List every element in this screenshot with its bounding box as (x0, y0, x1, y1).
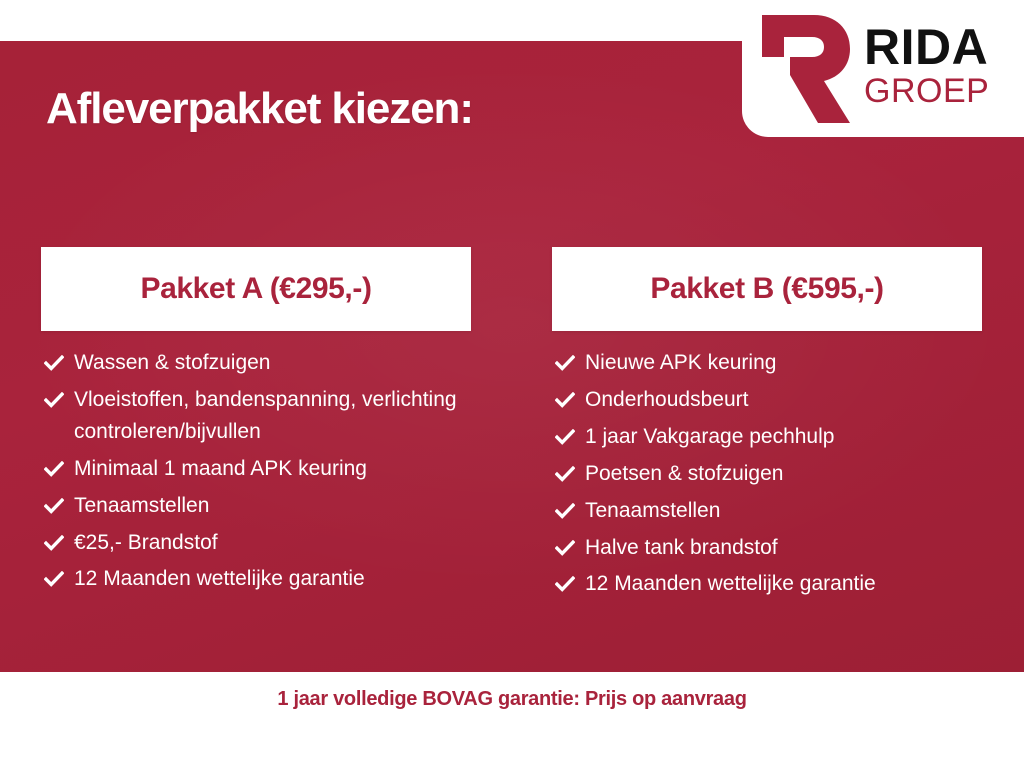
list-item: Tenaamstellen (41, 490, 471, 522)
rida-r-monogram-icon (756, 13, 852, 125)
package-b-feature-list: Nieuwe APK keuring Onderhoudsbeurt (552, 331, 982, 600)
checkmark-icon (555, 568, 585, 592)
package-card-a[interactable]: Pakket A (€295,-) Wassen & stofzuigen (41, 247, 471, 605)
checkmark-icon (44, 384, 74, 408)
list-item-label: Onderhoudsbeurt (585, 384, 982, 416)
page-title: Afleverpakket kiezen: (46, 84, 473, 134)
footer-bar: 1 jaar volledige BOVAG garantie: Prijs o… (0, 672, 1024, 768)
list-item-label: Nieuwe APK keuring (585, 347, 982, 379)
package-b-header: Pakket B (€595,-) (552, 247, 982, 331)
slide-root: Afleverpakket kiezen: Pakket A (€295,-) … (0, 0, 1024, 768)
checkmark-icon (555, 458, 585, 482)
list-item: 1 jaar Vakgarage pechhulp (552, 421, 982, 453)
checkmark-icon (555, 384, 585, 408)
brand-logo-wordmark: RIDA GROEP (864, 23, 989, 114)
list-item: Vloeistoffen, bandenspanning, verlichtin… (41, 384, 471, 448)
checkmark-icon (555, 421, 585, 445)
checkmark-icon (44, 490, 74, 514)
list-item-label: Wassen & stofzuigen (74, 347, 471, 379)
list-item: Onderhoudsbeurt (552, 384, 982, 416)
list-item-label: 12 Maanden wettelijke garantie (74, 563, 471, 595)
list-item: 12 Maanden wettelijke garantie (552, 568, 982, 600)
package-a-feature-list: Wassen & stofzuigen Vloeistoffen, banden… (41, 331, 471, 595)
checkmark-icon (44, 563, 74, 587)
packages-container: Pakket A (€295,-) Wassen & stofzuigen (0, 247, 1024, 605)
brand-name-secondary: GROEP (864, 74, 989, 110)
brand-name-primary: RIDA (864, 23, 989, 72)
list-item: Minimaal 1 maand APK keuring (41, 453, 471, 485)
list-item: 12 Maanden wettelijke garantie (41, 563, 471, 595)
list-item: Nieuwe APK keuring (552, 347, 982, 379)
list-item-label: Halve tank brandstof (585, 532, 982, 564)
package-a-header: Pakket A (€295,-) (41, 247, 471, 331)
list-item-label: 12 Maanden wettelijke garantie (585, 568, 982, 600)
list-item: Tenaamstellen (552, 495, 982, 527)
list-item: €25,- Brandstof (41, 527, 471, 559)
list-item: Poetsen & stofzuigen (552, 458, 982, 490)
brand-logo-panel: RIDA GROEP (742, 0, 1024, 137)
checkmark-icon (555, 495, 585, 519)
checkmark-icon (44, 347, 74, 371)
package-a-title: Pakket A (€295,-) (140, 272, 371, 306)
list-item: Wassen & stofzuigen (41, 347, 471, 379)
list-item-label: Minimaal 1 maand APK keuring (74, 453, 471, 485)
list-item-label: Vloeistoffen, bandenspanning, verlichtin… (74, 384, 471, 448)
footer-note: 1 jaar volledige BOVAG garantie: Prijs o… (277, 688, 746, 711)
list-item-label: Tenaamstellen (74, 490, 471, 522)
checkmark-icon (555, 532, 585, 556)
list-item-label: Poetsen & stofzuigen (585, 458, 982, 490)
list-item-label: 1 jaar Vakgarage pechhulp (585, 421, 982, 453)
package-card-b[interactable]: Pakket B (€595,-) Nieuwe APK keuring (552, 247, 982, 605)
checkmark-icon (44, 527, 74, 551)
checkmark-icon (555, 347, 585, 371)
list-item-label: €25,- Brandstof (74, 527, 471, 559)
list-item-label: Tenaamstellen (585, 495, 982, 527)
list-item: Halve tank brandstof (552, 532, 982, 564)
package-b-title: Pakket B (€595,-) (650, 272, 883, 306)
checkmark-icon (44, 453, 74, 477)
